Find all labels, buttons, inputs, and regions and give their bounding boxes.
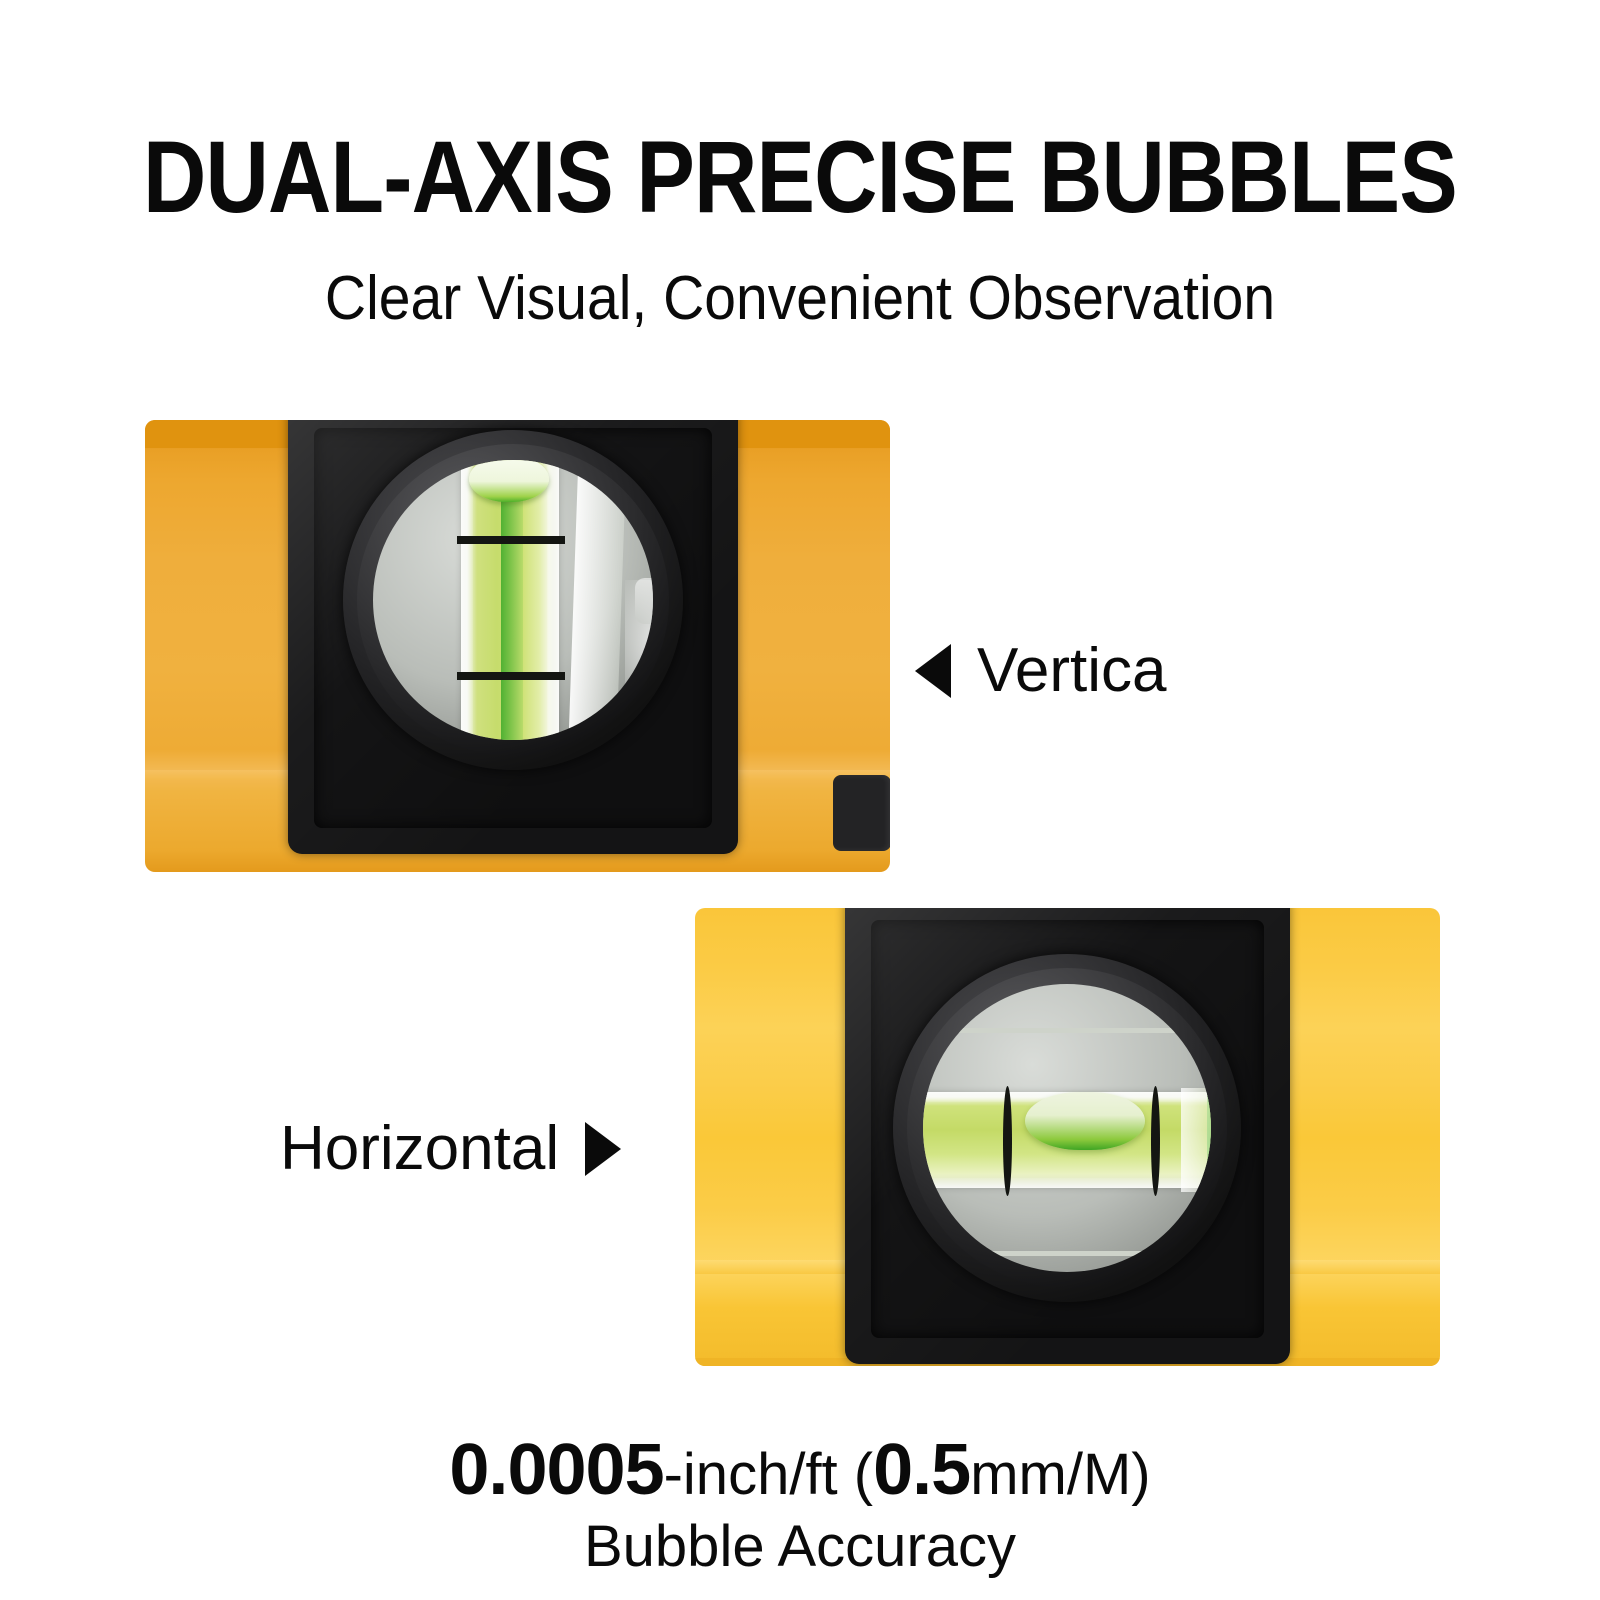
reference-line-lower [457, 672, 565, 680]
spirit-vial-vertical [461, 460, 559, 740]
level-end-cap [833, 775, 890, 851]
bubble-lens-ring [893, 954, 1241, 1302]
spirit-vial-horizontal [923, 1092, 1211, 1188]
vial-end-cap [1181, 1088, 1211, 1192]
air-bubble [469, 460, 549, 502]
callout-horizontal-label: Horizontal [280, 1118, 559, 1180]
reference-line-upper [457, 536, 565, 544]
accuracy-caption: Bubble Accuracy [0, 1518, 1600, 1576]
page-subtitle: Clear Visual, Convenient Observation [64, 268, 1536, 330]
accuracy-value-metric: 0.5 [873, 1430, 970, 1510]
callout-vertical: Vertica [915, 640, 1167, 702]
callout-vertical-label: Vertica [977, 640, 1167, 702]
reference-line-right [1151, 1086, 1160, 1196]
accuracy-unit-metric: mm/M [970, 1442, 1131, 1507]
triangle-left-icon [915, 644, 951, 698]
vial-green-edge [501, 470, 523, 740]
bubble-housing-vertical [288, 420, 738, 854]
vial-band-top [923, 1028, 1211, 1033]
product-photo-horizontal-bubble [695, 908, 1440, 1366]
lens-reflection-dot [635, 578, 653, 624]
reference-line-left [1003, 1086, 1012, 1196]
product-photo-vertical-bubble [145, 420, 890, 872]
accuracy-value-imperial: 0.0005 [449, 1430, 663, 1510]
accuracy-line: 0.0005-inch/ft (0.5mm/M) [0, 1434, 1600, 1506]
vial-edge-right [547, 460, 559, 740]
bubble-lens-glass [923, 984, 1211, 1272]
page-title: DUAL-AXIS PRECISE BUBBLES [112, 126, 1488, 228]
air-bubble [1025, 1092, 1145, 1150]
lens-glare-bar [568, 468, 626, 740]
vial-band-bottom [923, 1251, 1211, 1256]
bubble-lens-ring [343, 430, 683, 770]
vial-edge-left [461, 460, 473, 740]
accuracy-open-paren: ( [838, 1442, 873, 1507]
triangle-right-icon [585, 1122, 621, 1176]
bubble-housing-horizontal [845, 908, 1290, 1364]
bubble-lens-glass [373, 460, 653, 740]
accuracy-unit-imperial: -inch/ft [664, 1442, 838, 1507]
accuracy-close-paren: ) [1131, 1442, 1150, 1507]
callout-horizontal: Horizontal [280, 1118, 621, 1180]
vial-edge-bottom [923, 1178, 1211, 1188]
